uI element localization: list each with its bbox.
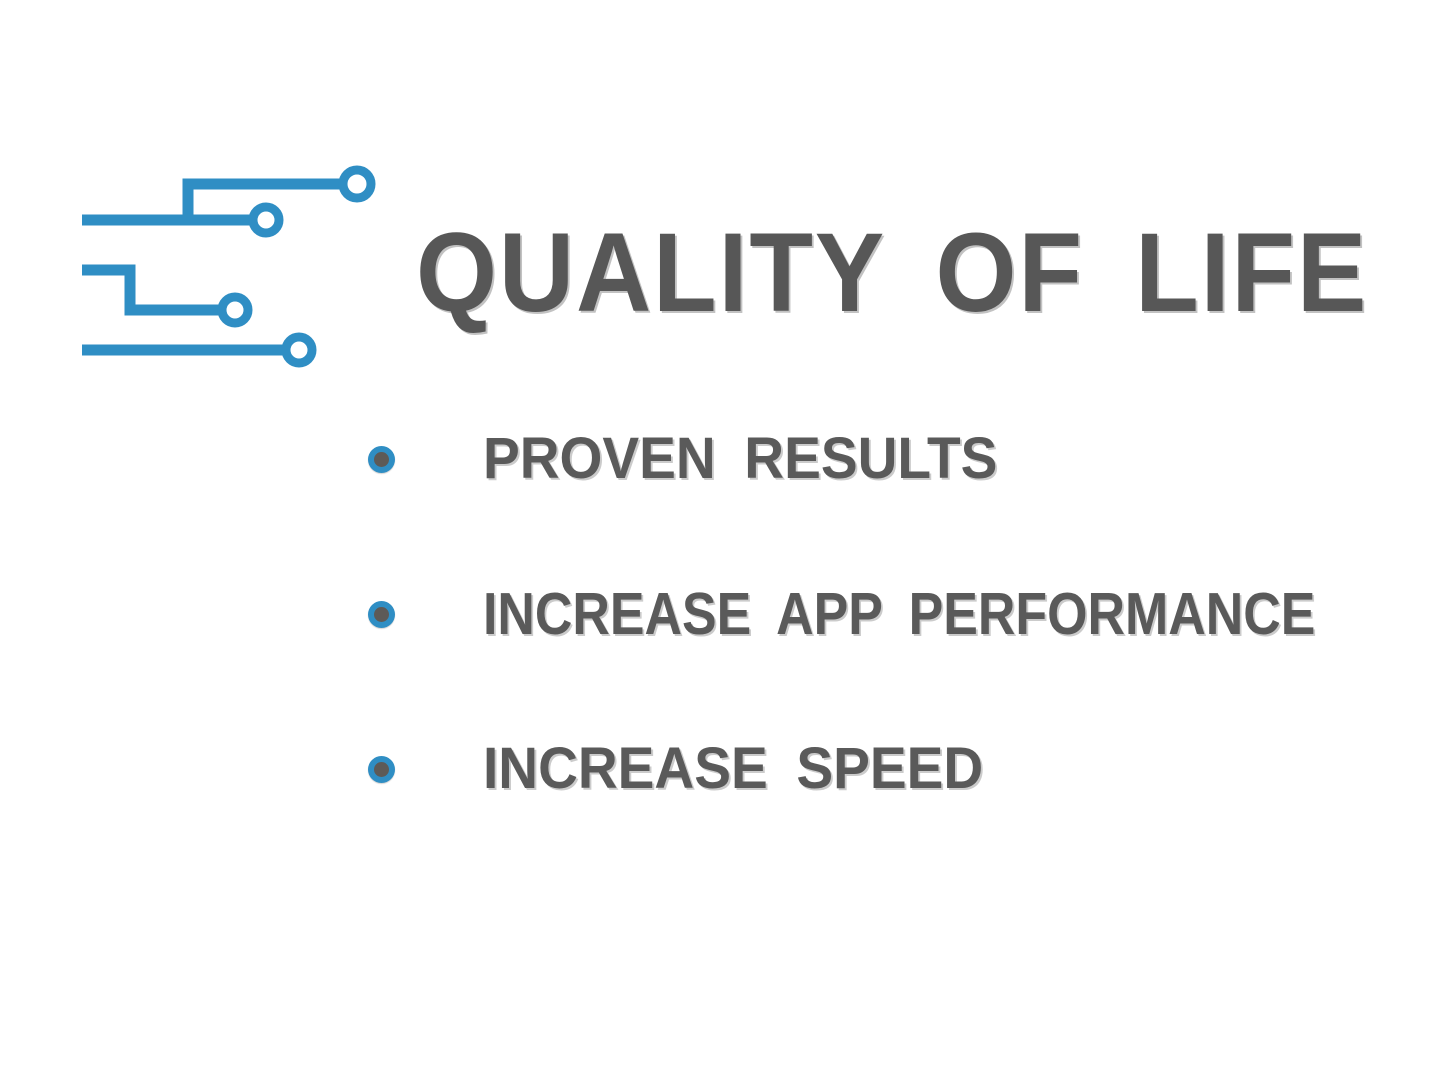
circle-bullet-core: [374, 607, 389, 622]
circuit-node-second: [253, 207, 279, 233]
circuit-node-top: [343, 170, 371, 198]
circle-bullet-core: [374, 452, 389, 467]
circle-bullet-icon: [368, 601, 395, 628]
circuit-node-bottom: [286, 337, 312, 363]
list-item: INCREASE APP PERFORMANCE: [368, 575, 1408, 653]
circle-bullet-core: [374, 762, 389, 777]
circuit-node-third: [222, 297, 248, 323]
list-item: PROVEN RESULTS: [368, 420, 1408, 498]
circuit-lines-icon: [70, 160, 380, 370]
bullet-label-increase-speed: INCREASE SPEED: [483, 740, 983, 798]
bullet-list: PROVEN RESULTS INCREASE APP PERFORMANCE …: [368, 420, 1408, 885]
circle-bullet-icon: [368, 756, 395, 783]
slide-canvas: QUALITY OF LIFE PROVEN RESULTS INCREASE …: [0, 0, 1440, 1086]
list-item: INCREASE SPEED: [368, 730, 1408, 808]
circle-bullet-icon: [368, 446, 395, 473]
bullet-label-increase-app-performance: INCREASE APP PERFORMANCE: [483, 585, 1315, 644]
title-block: QUALITY OF LIFE: [416, 218, 1316, 328]
circuit-trace-third: [82, 270, 222, 310]
bullet-label-proven-results: PROVEN RESULTS: [483, 430, 997, 488]
page-title: QUALITY OF LIFE: [416, 217, 1368, 329]
